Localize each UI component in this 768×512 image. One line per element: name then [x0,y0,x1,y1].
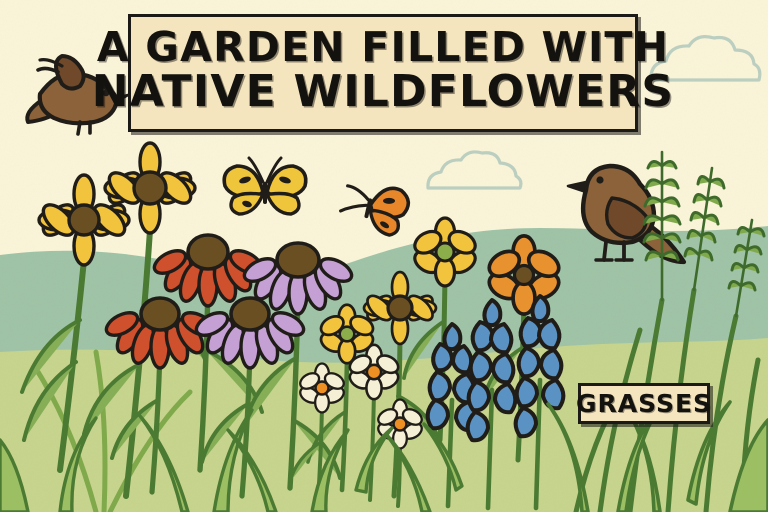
grasses-label-box: GRASSES [578,383,710,424]
title-line-2: NATIVE WILDFLOWERS [92,69,674,116]
title-line-1: A GARDEN FILLED WITH [97,26,669,69]
title-plaque: A GARDEN FILLED WITH NATIVE WILDFLOWERS [128,14,638,132]
illustration-canvas: A GARDEN FILLED WITH NATIVE WILDFLOWERS … [0,0,768,512]
grasses-label-text: GRASSES [576,389,712,418]
